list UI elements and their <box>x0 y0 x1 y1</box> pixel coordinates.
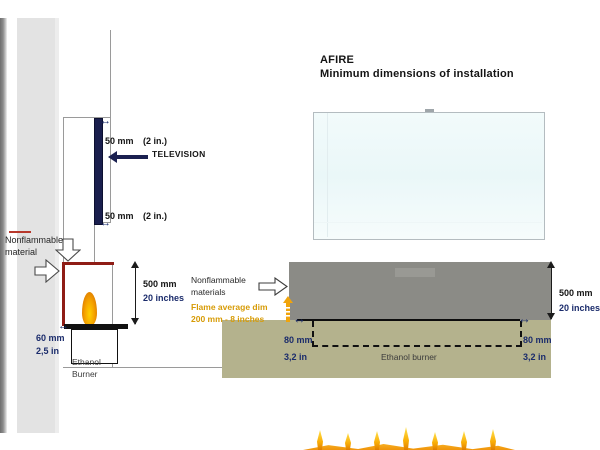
television-screen-seam-horizontal <box>314 222 542 223</box>
television-screen-seam-vertical <box>327 113 328 237</box>
left-clearance-imperial: 3,2 in <box>284 352 307 362</box>
left-clearance-arrow-icon: ↔ <box>293 311 305 326</box>
right-clearance-metric: 80 mm <box>523 335 552 345</box>
nonflammable-material-horizontal <box>62 262 114 265</box>
top-clearance-imperial: (2 in.) <box>143 136 167 146</box>
flame-1 <box>317 430 323 450</box>
ethanol-burner-outline <box>312 321 522 347</box>
ethanol-burner-label-line2: Burner <box>72 370 98 380</box>
flame-callout-line2: 200 mm - 8 inches <box>191 315 264 325</box>
bottom-clearance-metric: 50 mm <box>105 211 134 221</box>
diagram-canvas: AFIRE Minimum dimensions of installation… <box>0 0 600 450</box>
height-dimension-imperial: 20 inches <box>143 293 184 303</box>
flame-7 <box>490 429 496 450</box>
television-pointer-arrowhead-icon <box>108 151 117 163</box>
flame-3 <box>374 431 380 450</box>
television-screen <box>313 112 545 240</box>
right-height-dimension-line <box>551 266 552 319</box>
television-panel <box>94 118 103 225</box>
right-height-arrowhead-down-icon <box>547 313 555 320</box>
television-pointer-line <box>116 155 148 159</box>
right-callout-arrow-right-icon <box>258 277 288 296</box>
left-clearance-metric: 80 mm <box>284 335 313 345</box>
page-title: AFIRE <box>320 54 354 67</box>
nonflammable-callout-line2: material <box>5 247 37 257</box>
flame-5 <box>432 432 438 450</box>
depth-dimension-arrow-icon: ↔ <box>58 320 68 332</box>
top-clearance-metric: 50 mm <box>105 136 134 146</box>
right-height-imperial: 20 inches <box>559 303 600 313</box>
nonflammable-legend-swatch <box>9 231 31 233</box>
bottom-clearance-label: 50 mm (2 in.) <box>105 206 167 224</box>
television-label: TELEVISION <box>152 150 206 160</box>
right-clearance-imperial: 3,2 in <box>523 352 546 362</box>
construction-line-mid-vertical <box>94 222 95 262</box>
height-dimension-metric: 500 mm <box>143 279 177 289</box>
depth-dimension-imperial: 2,5 in <box>36 346 59 356</box>
right-clearance-arrow-icon: ↔ <box>518 311 530 326</box>
flame-dimension-marker-icon <box>283 296 293 322</box>
flame-callout-line1: Flame average dim <box>191 303 268 313</box>
top-clearance-arrow-icon: ↔ <box>100 115 110 127</box>
bottom-clearance-imperial: (2 in.) <box>143 211 167 221</box>
top-clearance-label: 50 mm (2 in.) <box>105 131 167 149</box>
callout-arrow-right-icon <box>34 259 60 283</box>
nonflammable-material-vertical <box>62 262 65 326</box>
depth-dimension-metric: 60 mm <box>36 333 65 343</box>
right-height-arrowhead-up-icon <box>547 261 555 268</box>
page-left-shadow-band <box>0 18 7 433</box>
flame-base-glow <box>303 443 515 450</box>
flame-4 <box>403 427 409 450</box>
construction-line-top-vertical <box>110 30 111 118</box>
flame-6 <box>461 431 467 450</box>
ethanol-burner-label-line1: Ethanol <box>72 358 101 368</box>
height-dimension-arrowhead-down-icon <box>131 318 139 325</box>
ethanol-burner-label: Ethanol burner <box>381 353 437 363</box>
height-dimension-arrowhead-up-icon <box>131 261 139 268</box>
right-height-metric: 500 mm <box>559 288 593 298</box>
right-nonflammable-callout-line1: Nonflammable <box>191 276 246 286</box>
right-nonflammable-callout-line2: materials <box>191 288 225 298</box>
wall-section-band <box>17 18 55 433</box>
wall-highlight-patch <box>395 268 435 277</box>
page-left-white-band <box>7 18 17 433</box>
flame-left-diagram <box>82 292 97 326</box>
flame-2 <box>345 433 351 450</box>
height-dimension-line <box>135 266 136 324</box>
page-subtitle: Minimum dimensions of installation <box>320 68 514 81</box>
